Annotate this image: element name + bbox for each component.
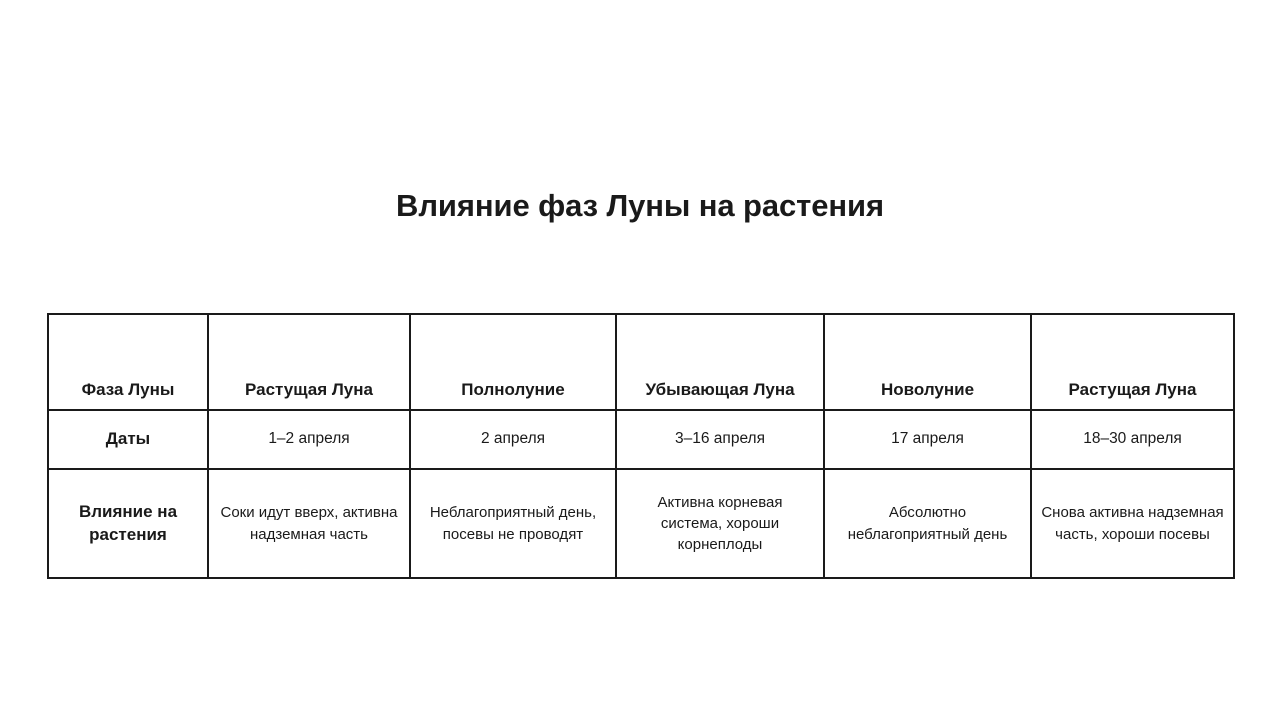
cell-dates-1: 1–2 апреля [208,410,410,469]
row-header-dates: Даты [48,410,208,469]
table-row-phase: Фаза Луны Растущая Луна Полнолуние Убыва… [48,314,1234,410]
cell-dates-5: 18–30 апреля [1031,410,1234,469]
cell-effect-5: Снова активна надземная часть, хороши по… [1031,469,1234,578]
cell-dates-4: 17 апреля [824,410,1031,469]
row-header-effect: Влияние на растения [48,469,208,578]
cell-phase-5: Растущая Луна [1031,314,1234,410]
table-row-effect: Влияние на растения Соки идут вверх, акт… [48,469,1234,578]
cell-phase-2: Полнолуние [410,314,616,410]
cell-phase-4: Новолуние [824,314,1031,410]
row-header-phase: Фаза Луны [48,314,208,410]
moon-phases-table: Фаза Луны Растущая Луна Полнолуние Убыва… [47,313,1235,579]
cell-dates-2: 2 апреля [410,410,616,469]
cell-dates-3: 3–16 апреля [616,410,824,469]
cell-effect-3: Активна корневая система, хороши корнепл… [616,469,824,578]
moon-phases-table-container: Фаза Луны Растущая Луна Полнолуние Убыва… [47,313,1233,579]
cell-effect-2: Неблагоприятный день, посевы не проводят [410,469,616,578]
table-row-dates: Даты 1–2 апреля 2 апреля 3–16 апреля 17 … [48,410,1234,469]
cell-effect-1: Соки идут вверх, активна надземная часть [208,469,410,578]
slide-canvas: Влияние фаз Луны на растения Фаза Луны Р… [0,0,1280,720]
cell-phase-1: Растущая Луна [208,314,410,410]
cell-effect-4: Абсолютно неблагоприятный день [824,469,1031,578]
page-title: Влияние фаз Луны на растения [0,188,1280,224]
cell-phase-3: Убывающая Луна [616,314,824,410]
